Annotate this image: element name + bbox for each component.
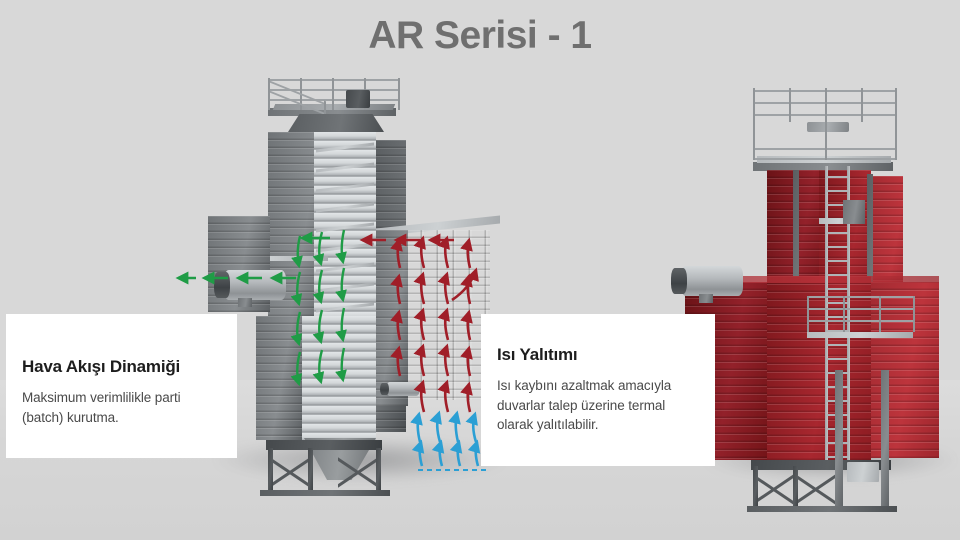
info-card-insulation[interactable]: Isı Yalıtımı Isı kaybını azaltmak amacıy… xyxy=(481,314,715,466)
right-dryer-machine xyxy=(675,70,960,480)
info-card-insulation-body: Isı kaybını azaltmak amacıyla duvarlar t… xyxy=(497,376,699,435)
cooling-air-arrow-group xyxy=(418,413,478,466)
r-base-column-2 xyxy=(881,370,889,510)
r-top-platform-railing xyxy=(753,86,897,160)
r-intake-fan-body xyxy=(681,266,743,296)
info-card-airflow-body: Maksimum verimlilikle parti (batch) kuru… xyxy=(22,388,221,427)
r-base-floor-plate xyxy=(747,506,897,512)
r-base-leg-2 xyxy=(793,466,798,510)
ladder-rest-box xyxy=(843,200,865,224)
r-control-cabinet xyxy=(847,462,879,482)
info-card-airflow-title: Hava Akışı Dinamiği xyxy=(22,357,221,377)
r-base-x-brace-mid xyxy=(797,468,835,508)
info-card-airflow[interactable]: Hava Akışı Dinamiği Maksimum verimlilikl… xyxy=(6,314,237,458)
r-base-column-1 xyxy=(835,370,843,510)
intake-swirl-group xyxy=(297,230,344,384)
info-card-insulation-title: Isı Yalıtımı xyxy=(497,345,699,365)
r-mid-platform-railing xyxy=(807,296,915,336)
r-intake-fan-mount xyxy=(699,294,713,303)
hot-air-arrow-group xyxy=(362,238,476,412)
slide-canvas: AR Serisi - 1 xyxy=(0,0,960,540)
r-base-leg-1 xyxy=(753,466,758,510)
r-intake-fan-inlet-cap xyxy=(671,268,687,294)
r-base-x-brace-left xyxy=(755,468,793,508)
